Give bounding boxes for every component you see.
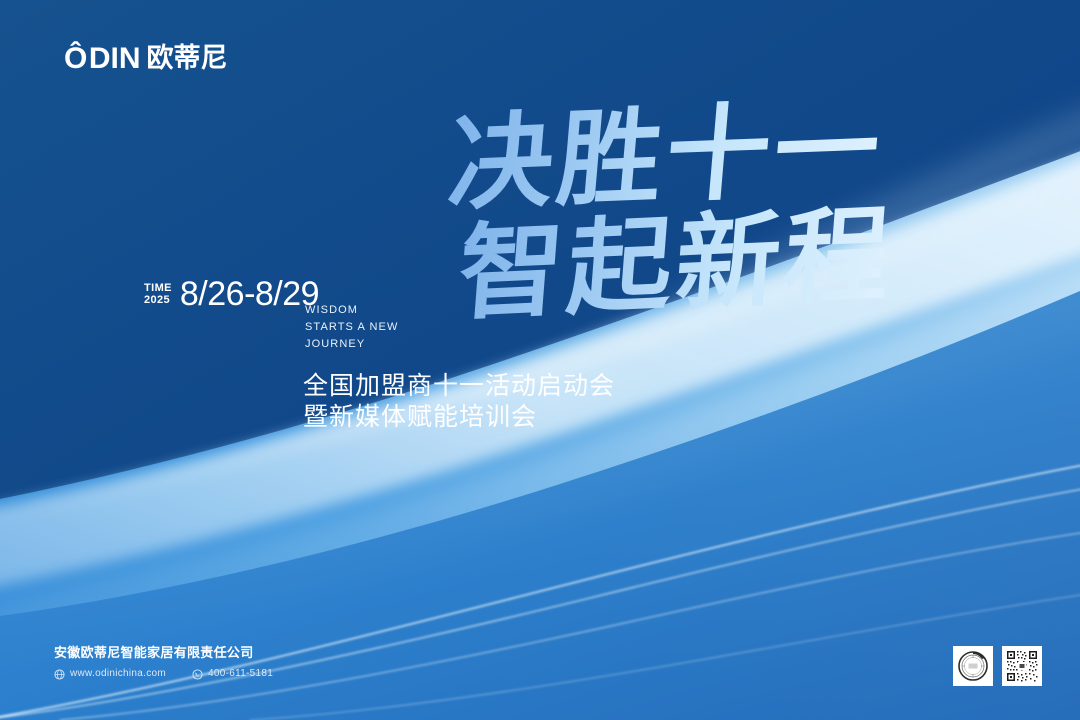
seal-badge-icon[interactable] (953, 646, 993, 686)
phone-icon (192, 669, 203, 680)
phone-text: 400-611-5181 (208, 667, 273, 681)
time-label: TIME (144, 282, 172, 294)
logo-chinese-text: 欧蒂尼 (147, 44, 228, 74)
logo-latin-text: DIN (89, 44, 141, 74)
subtitle-line-2: 暨新媒体赋能培训会 (303, 401, 615, 432)
contact-row: www.odinichina.com 400-611-5181 (54, 667, 273, 681)
event-date: TIME 2025 8/26-8/29 (144, 276, 319, 312)
date-range: 8/26-8/29 (180, 276, 319, 312)
footer-info: 安徽欧蒂尼智能家居有限责任公司 www.odinichina.com (54, 645, 273, 681)
english-tagline: WISDOM STARTS A NEW JOURNEY (305, 302, 398, 353)
subtitle-line-1: 全国加盟商十一活动启动会 (303, 370, 615, 401)
brand-logo: Ô DIN 欧蒂尼 (64, 44, 228, 74)
phone-item[interactable]: 400-611-5181 (192, 667, 273, 681)
background-waves (0, 0, 1080, 720)
qr-code-icon[interactable] (1002, 646, 1042, 686)
tagline-line-2: STARTS A NEW (305, 319, 398, 336)
website-text: www.odinichina.com (70, 667, 166, 681)
year-label: 2025 (144, 294, 172, 306)
tagline-line-1: WISDOM (305, 302, 398, 319)
globe-icon (54, 669, 65, 680)
logo-o-mark: Ô (64, 44, 87, 74)
event-subtitle: 全国加盟商十一活动启动会 暨新媒体赋能培训会 (303, 370, 615, 432)
website-item[interactable]: www.odinichina.com (54, 667, 166, 681)
event-poster: Ô DIN 欧蒂尼 决胜十一 智起新程 TIME 2025 8/26-8/29 … (0, 0, 1080, 720)
tagline-line-3: JOURNEY (305, 336, 398, 353)
company-name: 安徽欧蒂尼智能家居有限责任公司 (54, 645, 273, 663)
time-year-stack: TIME 2025 (144, 276, 172, 306)
code-group (953, 646, 1042, 686)
